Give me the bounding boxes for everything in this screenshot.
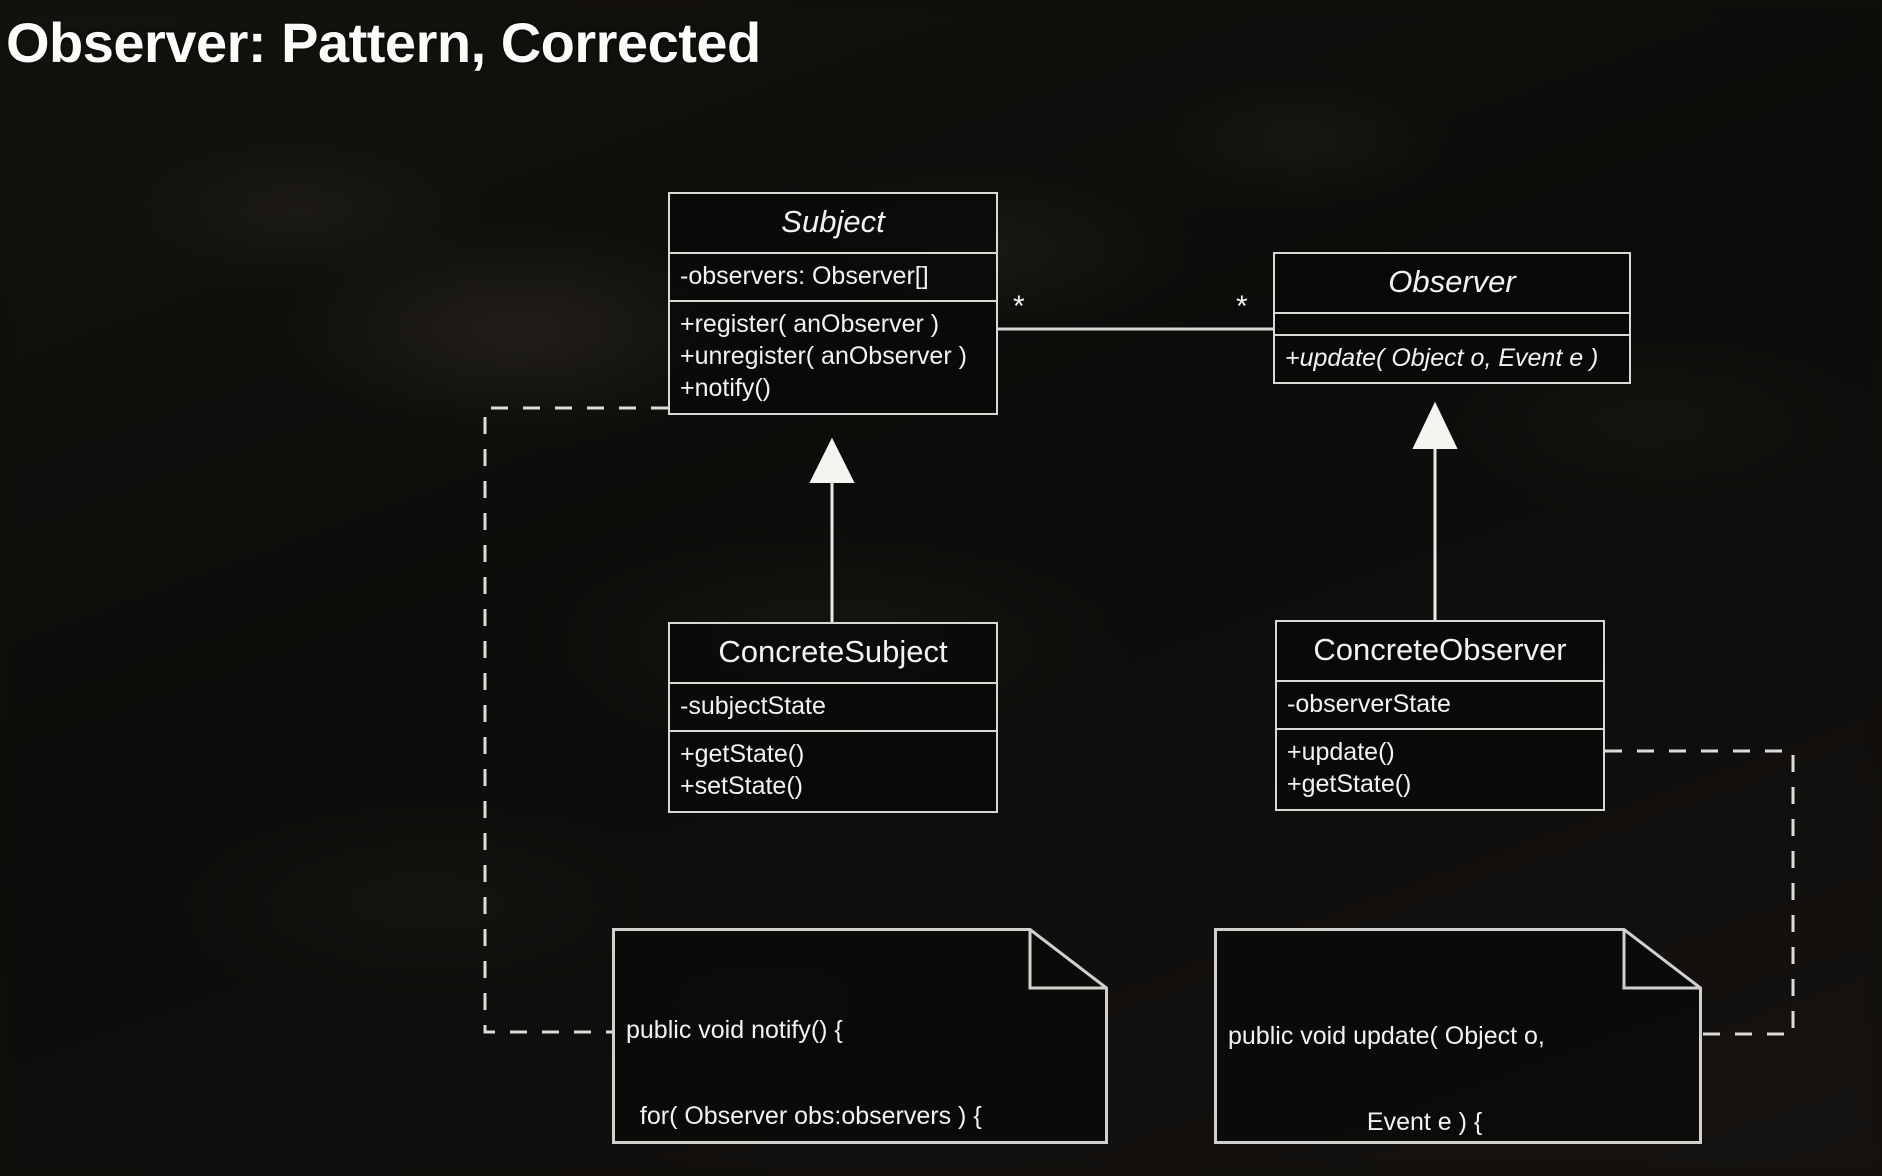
generalization-concretesubject-arrowhead	[811, 440, 853, 482]
methods-compartment-concretesubject: +getState() +setState()	[670, 730, 996, 811]
method-setstate: +setState()	[680, 771, 986, 803]
attributes-compartment-concreteobserver: -observerState	[1277, 680, 1603, 729]
attributes-compartment-observer	[1275, 312, 1629, 334]
class-name-observer: Observer	[1275, 254, 1629, 312]
methods-compartment-subject: +register( anObserver ) +unregister( anO…	[670, 300, 996, 412]
note-update-text: public void update( Object o, Event e ) …	[1228, 964, 1546, 1176]
method-unregister: +unregister( anObserver )	[680, 341, 986, 373]
methods-compartment-observer: +update( Object o, Event e )	[1275, 334, 1629, 383]
class-name-concretesubject: ConcreteSubject	[670, 624, 996, 682]
multiplicity-observer-side: *	[1236, 292, 1248, 322]
method-update-abstract: +update( Object o, Event e )	[1285, 343, 1619, 375]
method-getstate: +getState()	[680, 739, 986, 771]
class-name-subject: Subject	[670, 194, 996, 252]
class-box-subject[interactable]: Subject -observers: Observer[] +register…	[668, 192, 998, 415]
note-line: for( Observer obs:observers ) {	[626, 1102, 982, 1131]
note-line: Event e ) {	[1228, 1108, 1546, 1137]
note-line: public void notify() {	[626, 1016, 982, 1045]
multiplicity-subject-side: *	[1013, 292, 1025, 322]
generalization-concreteobserver-arrowhead	[1414, 404, 1456, 448]
class-box-observer[interactable]: Observer +update( Object o, Event e )	[1273, 252, 1631, 384]
class-box-concreteobserver[interactable]: ConcreteObserver -observerState +update(…	[1275, 620, 1605, 811]
class-box-concretesubject[interactable]: ConcreteSubject -subjectState +getState(…	[668, 622, 998, 813]
method-register: +register( anObserver )	[680, 309, 986, 341]
note-notify[interactable]: public void notify() { for( Observer obs…	[612, 928, 1108, 1144]
attributes-compartment-subject: -observers: Observer[]	[670, 252, 996, 301]
note-line: public void update( Object o,	[1228, 1022, 1546, 1051]
method-notify: +notify()	[680, 373, 986, 405]
attribute-subjectstate: -subjectState	[680, 691, 986, 723]
attributes-compartment-concretesubject: -subjectState	[670, 682, 996, 731]
slide: Observer: Pattern, Corrected * * Subject…	[0, 0, 1882, 1176]
note-update[interactable]: public void update( Object o, Event e ) …	[1214, 928, 1702, 1144]
method-getstate-observer: +getState()	[1287, 769, 1593, 801]
page-title: Observer: Pattern, Corrected	[6, 10, 761, 75]
methods-compartment-concreteobserver: +update() +getState()	[1277, 728, 1603, 809]
method-update: +update()	[1287, 737, 1593, 769]
class-name-concreteobserver: ConcreteObserver	[1277, 622, 1603, 680]
attribute-observerstate: -observerState	[1287, 689, 1593, 721]
attribute-observers: -observers: Observer[]	[680, 261, 986, 293]
note-notify-text: public void notify() { for( Observer obs…	[626, 958, 982, 1176]
